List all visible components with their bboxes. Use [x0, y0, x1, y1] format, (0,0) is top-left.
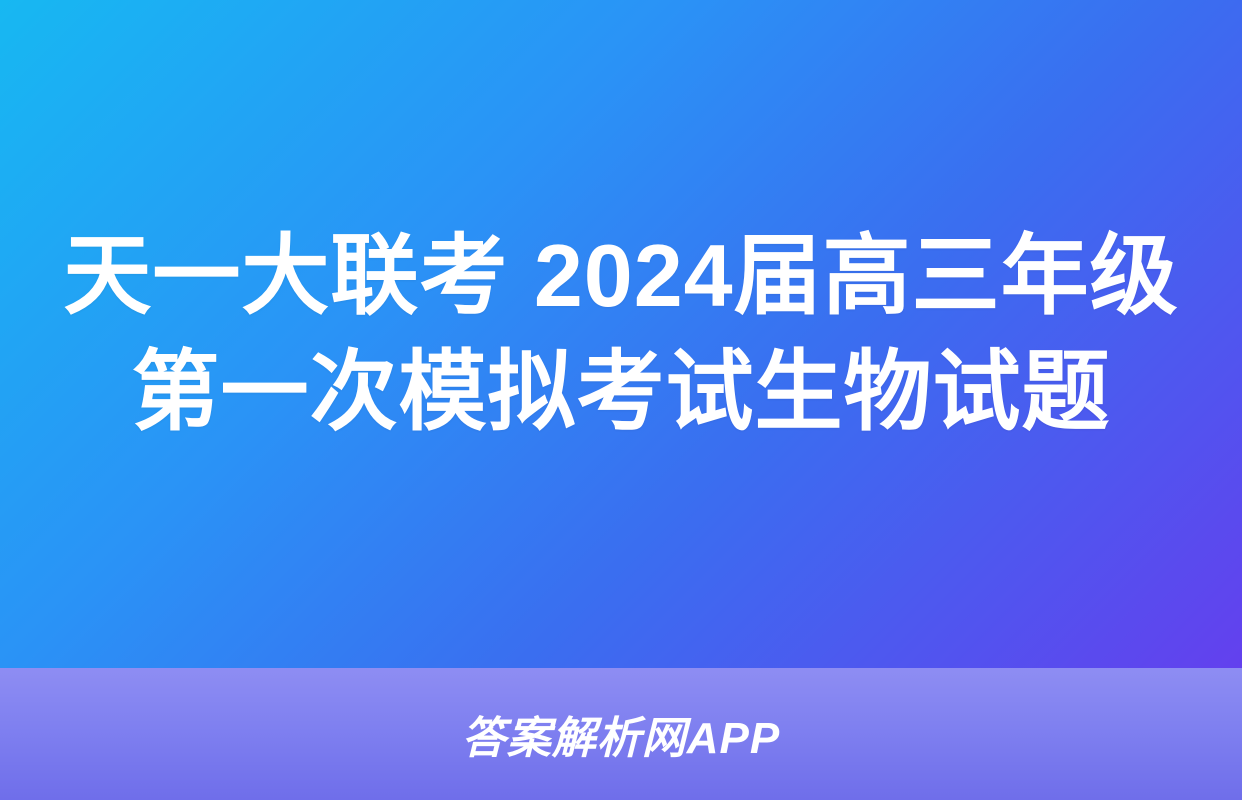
- watermark-label: 答案解析网APP: [462, 702, 780, 766]
- page-root: 天一大联考 2024届高三年级第一次模拟考试生物试题 答案解析网APP: [0, 0, 1242, 800]
- watermark-bar: 答案解析网APP: [0, 668, 1242, 800]
- page-title: 天一大联考 2024届高三年级第一次模拟考试生物试题: [61, 218, 1181, 450]
- hero-banner: 天一大联考 2024届高三年级第一次模拟考试生物试题: [0, 0, 1242, 668]
